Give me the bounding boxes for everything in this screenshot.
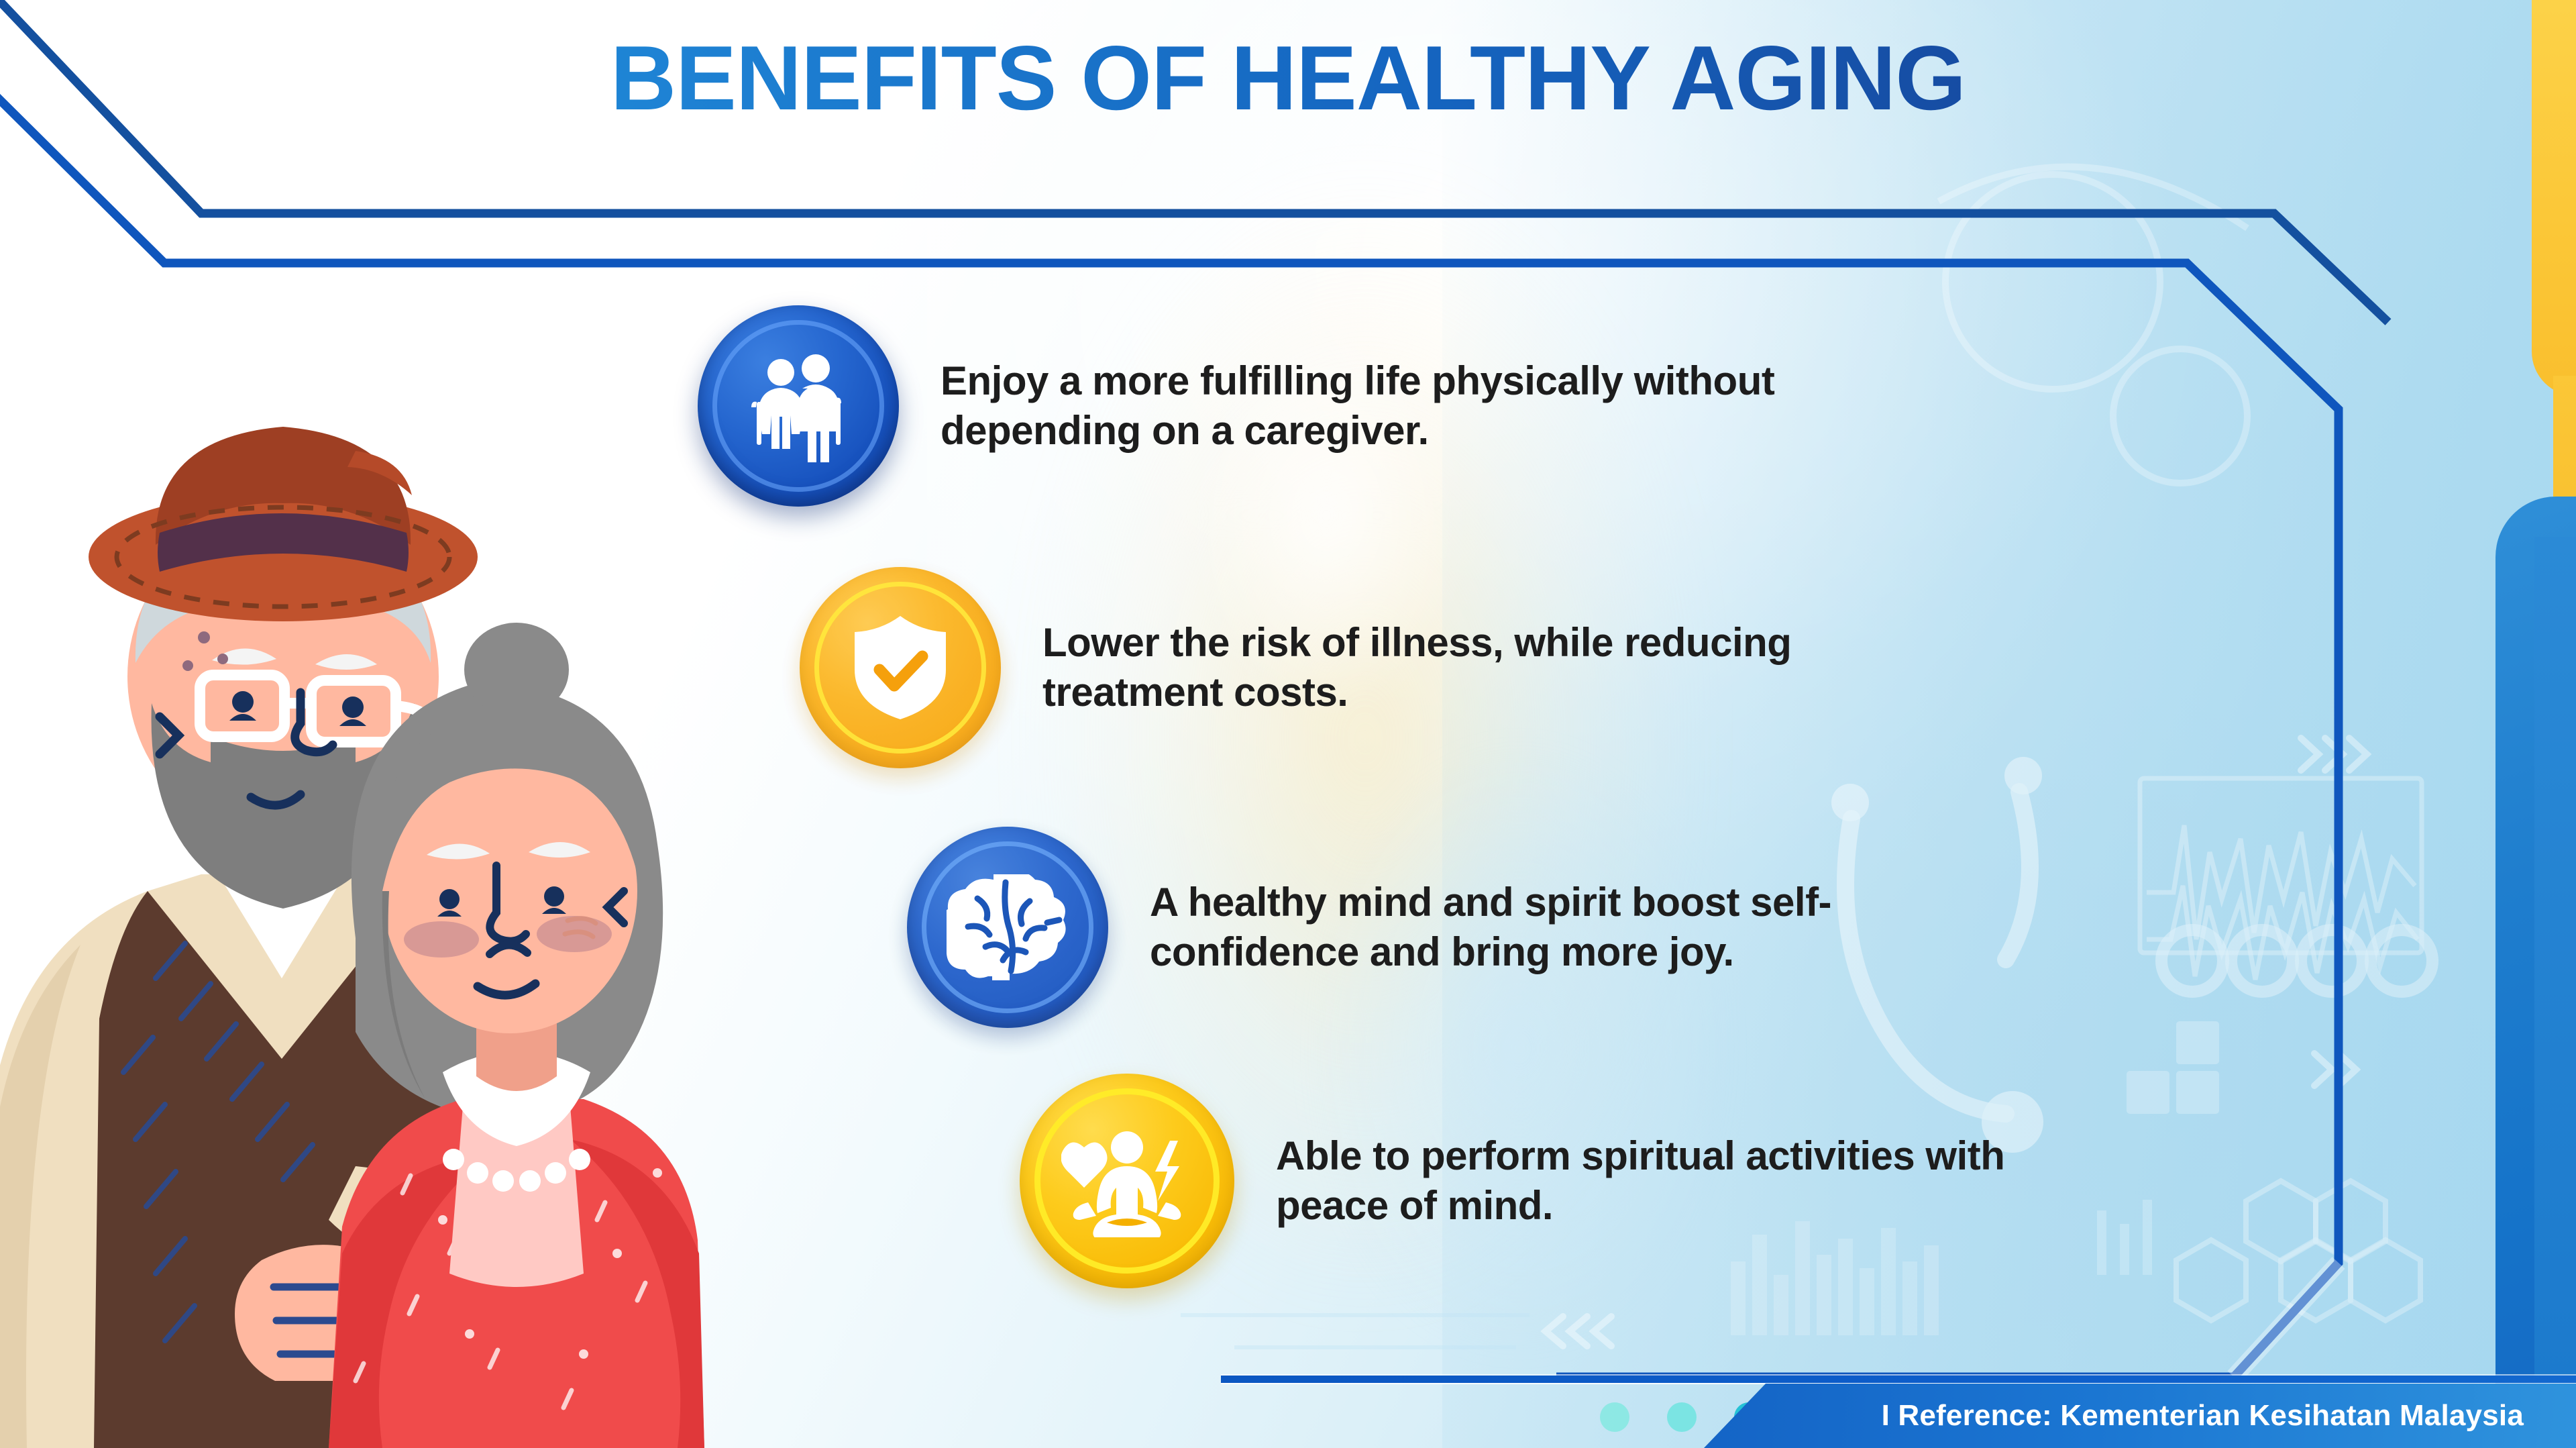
benefits-list: Enjoy a more fulfilling life physically …: [0, 0, 2576, 1448]
benefit-text-1: Enjoy a more fulfilling life physically …: [941, 356, 1893, 456]
benefit-text-3: A healthy mind and spirit boost self-con…: [1150, 878, 1955, 978]
benefit-text-4: Able to perform spiritual activities wit…: [1276, 1131, 2047, 1231]
footer-divider-line: [1221, 1376, 2576, 1383]
benefit-item-2: Lower the risk of illness, while reducin…: [800, 567, 1915, 768]
benefit-item-3: A healthy mind and spirit boost self-con…: [907, 827, 1955, 1028]
meditation-heart-energy-icon: [1020, 1074, 1234, 1288]
shield-check-icon: [800, 567, 1001, 768]
footer-dot-1: [1600, 1402, 1629, 1432]
benefit-text-2: Lower the risk of illness, while reducin…: [1042, 618, 1915, 718]
benefit-item-4: Able to perform spiritual activities wit…: [1020, 1074, 2047, 1288]
footer-reference-text: I Reference: Kementerian Kesihatan Malay…: [1882, 1399, 2524, 1433]
brain-icon: [907, 827, 1108, 1028]
footer-reference-banner: I Reference: Kementerian Kesihatan Malay…: [1704, 1384, 2576, 1448]
benefit-item-1: Enjoy a more fulfilling life physically …: [698, 305, 1893, 507]
infographic-canvas: BENEFITS OF HEALTHY AGING: [0, 0, 2576, 1448]
footer-dot-2: [1667, 1402, 1697, 1432]
elderly-couple-icon: [698, 305, 899, 507]
